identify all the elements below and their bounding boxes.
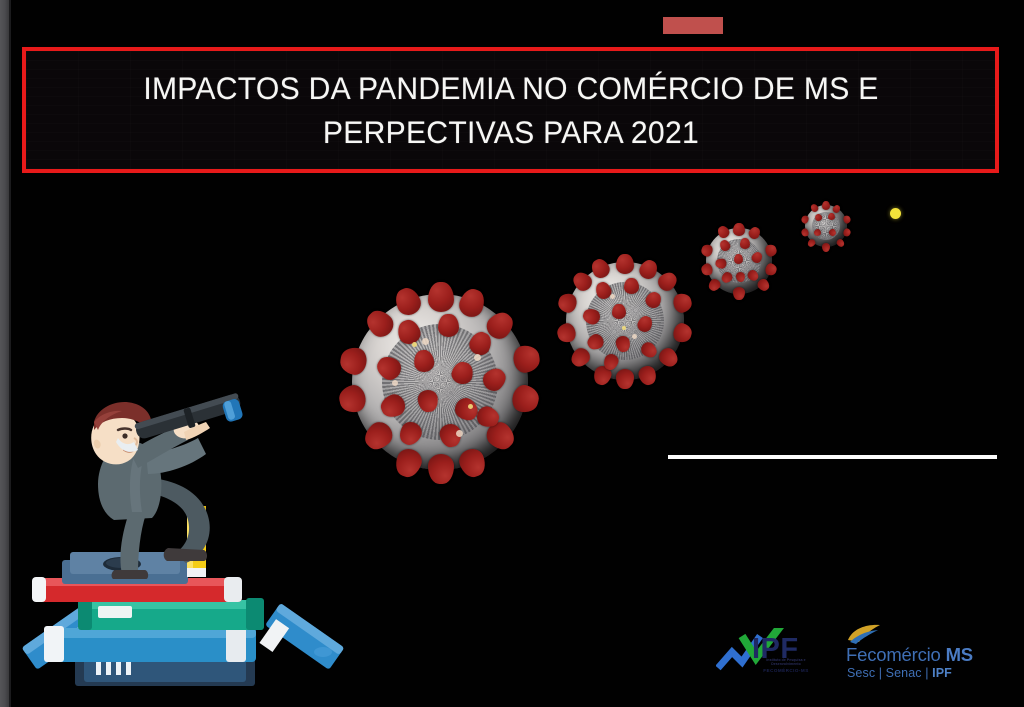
binder-right-tilted bbox=[259, 603, 344, 670]
coronavirus-particle-small bbox=[706, 228, 772, 294]
ipf-tagline: Instituto de Pesquisa e Desenvolvimento bbox=[753, 658, 819, 666]
coronavirus-particle-medium bbox=[566, 262, 684, 380]
businessman-figure bbox=[91, 393, 244, 579]
virus-spike-cluster bbox=[805, 205, 847, 247]
book-teal bbox=[78, 598, 264, 630]
fecomercio-ms-logo: Fecomércio MS Sesc | Senac | IPF bbox=[840, 622, 980, 684]
ipf-org: FECOMÉRCIO-MS bbox=[753, 668, 819, 673]
fecomercio-title: Fecomércio MS bbox=[846, 644, 973, 666]
page-title: IMPACTOS DA PANDEMIA NO COMÉRCIO DE MS E… bbox=[143, 66, 878, 154]
businessman-with-telescope-on-books bbox=[18, 380, 348, 700]
ipf-logo: IPF Instituto de Pesquisa e Desenvolvime… bbox=[716, 628, 820, 680]
slide-title-box: IMPACTOS DA PANDEMIA NO COMÉRCIO DE MS E… bbox=[22, 47, 999, 173]
yellow-dot-marker bbox=[890, 208, 901, 219]
virus-spike-cluster bbox=[352, 294, 528, 470]
window-left-gutter bbox=[0, 0, 9, 707]
coronavirus-particle-tiny bbox=[805, 205, 847, 247]
white-divider-rule bbox=[668, 455, 997, 459]
red-accent-bar bbox=[663, 17, 723, 34]
coronavirus-particle-large bbox=[352, 294, 528, 470]
fecomercio-subtitle: Sesc | Senac | IPF bbox=[847, 666, 952, 680]
presentation-slide: IMPACTOS DA PANDEMIA NO COMÉRCIO DE MS E… bbox=[0, 0, 1024, 707]
book-blue bbox=[44, 626, 256, 662]
window-gutter-divider bbox=[9, 0, 11, 707]
virus-spike-cluster bbox=[706, 228, 772, 294]
virus-spike-cluster bbox=[566, 262, 684, 380]
